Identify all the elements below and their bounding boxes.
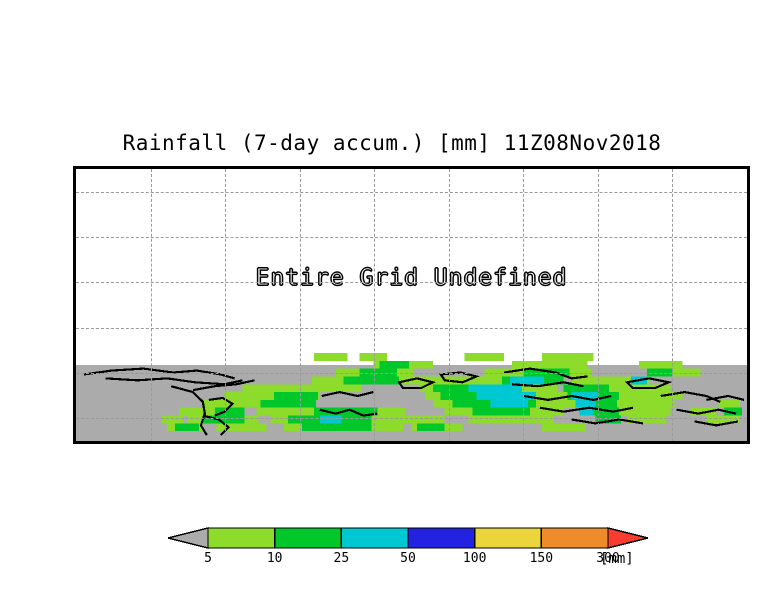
x-axis-tick: [672, 441, 674, 444]
colorbar-swatches: [168, 527, 648, 549]
x-axis-tick: [225, 441, 227, 444]
y-axis-tick: [73, 373, 76, 375]
y-axis-tick: [73, 396, 76, 398]
colorbar-block[interactable]: [275, 528, 342, 548]
colorbar-units-label: [mm]: [600, 551, 634, 567]
y-axis-tick: [73, 350, 76, 352]
gridline-horizontal: [76, 328, 747, 329]
y-axis-tick: [73, 441, 76, 443]
colorbar-arrow-high: [608, 528, 648, 548]
gridline-horizontal: [76, 237, 747, 238]
page-title: Rainfall (7-day accum.) [mm] 11Z08Nov201…: [0, 131, 784, 155]
gridline-horizontal: [76, 373, 747, 374]
plot-area: Entire Grid Undefined 135N130N125N120N11…: [73, 166, 750, 444]
colorbar-block[interactable]: [408, 528, 475, 548]
gridline-horizontal: [76, 418, 747, 419]
gridline-vertical: [523, 169, 524, 441]
x-axis-tick: [449, 441, 451, 444]
colorbar-block[interactable]: [541, 528, 608, 548]
x-axis-tick: [523, 441, 525, 444]
x-axis-tick: [300, 441, 302, 444]
colorbar-tick-label: 5: [204, 551, 212, 566]
gridline-vertical: [598, 169, 599, 441]
y-axis-tick: [73, 305, 76, 307]
colorbar-tick-label: 50: [400, 551, 416, 566]
colorbar-arrow-low: [168, 528, 208, 548]
gridline-vertical: [300, 169, 301, 441]
colorbar-block[interactable]: [475, 528, 542, 548]
x-axis-tick: [76, 441, 78, 444]
y-axis-tick: [73, 192, 76, 194]
colorbar-block[interactable]: [208, 528, 275, 548]
gridline-vertical: [151, 169, 152, 441]
gridline-horizontal: [76, 282, 747, 283]
colorbar-tick-label: 100: [463, 551, 486, 566]
gridline-vertical: [449, 169, 450, 441]
x-axis-tick: [374, 441, 376, 444]
coastline-overlay: [76, 169, 747, 441]
colorbar-tick-label: 25: [334, 551, 350, 566]
gridline-vertical: [374, 169, 375, 441]
y-axis-tick: [73, 418, 76, 420]
y-axis-tick: [73, 237, 76, 239]
y-axis-tick: [73, 214, 76, 216]
y-axis-tick: [73, 169, 76, 171]
gridline-vertical: [672, 169, 673, 441]
colorbar-block[interactable]: [341, 528, 408, 548]
y-axis-tick: [73, 260, 76, 262]
gridline-horizontal: [76, 192, 747, 193]
colorbar-tick-label: 150: [530, 551, 553, 566]
colorbar[interactable]: 5102550100150300: [168, 527, 648, 549]
x-axis-tick: [598, 441, 600, 444]
x-axis-tick: [747, 441, 749, 444]
plot-inner: Entire Grid Undefined 135N130N125N120N11…: [76, 169, 747, 441]
y-axis-tick: [73, 328, 76, 330]
y-axis-tick: [73, 282, 76, 284]
gridline-vertical: [225, 169, 226, 441]
colorbar-tick-label: 10: [267, 551, 283, 566]
x-axis-tick: [151, 441, 153, 444]
